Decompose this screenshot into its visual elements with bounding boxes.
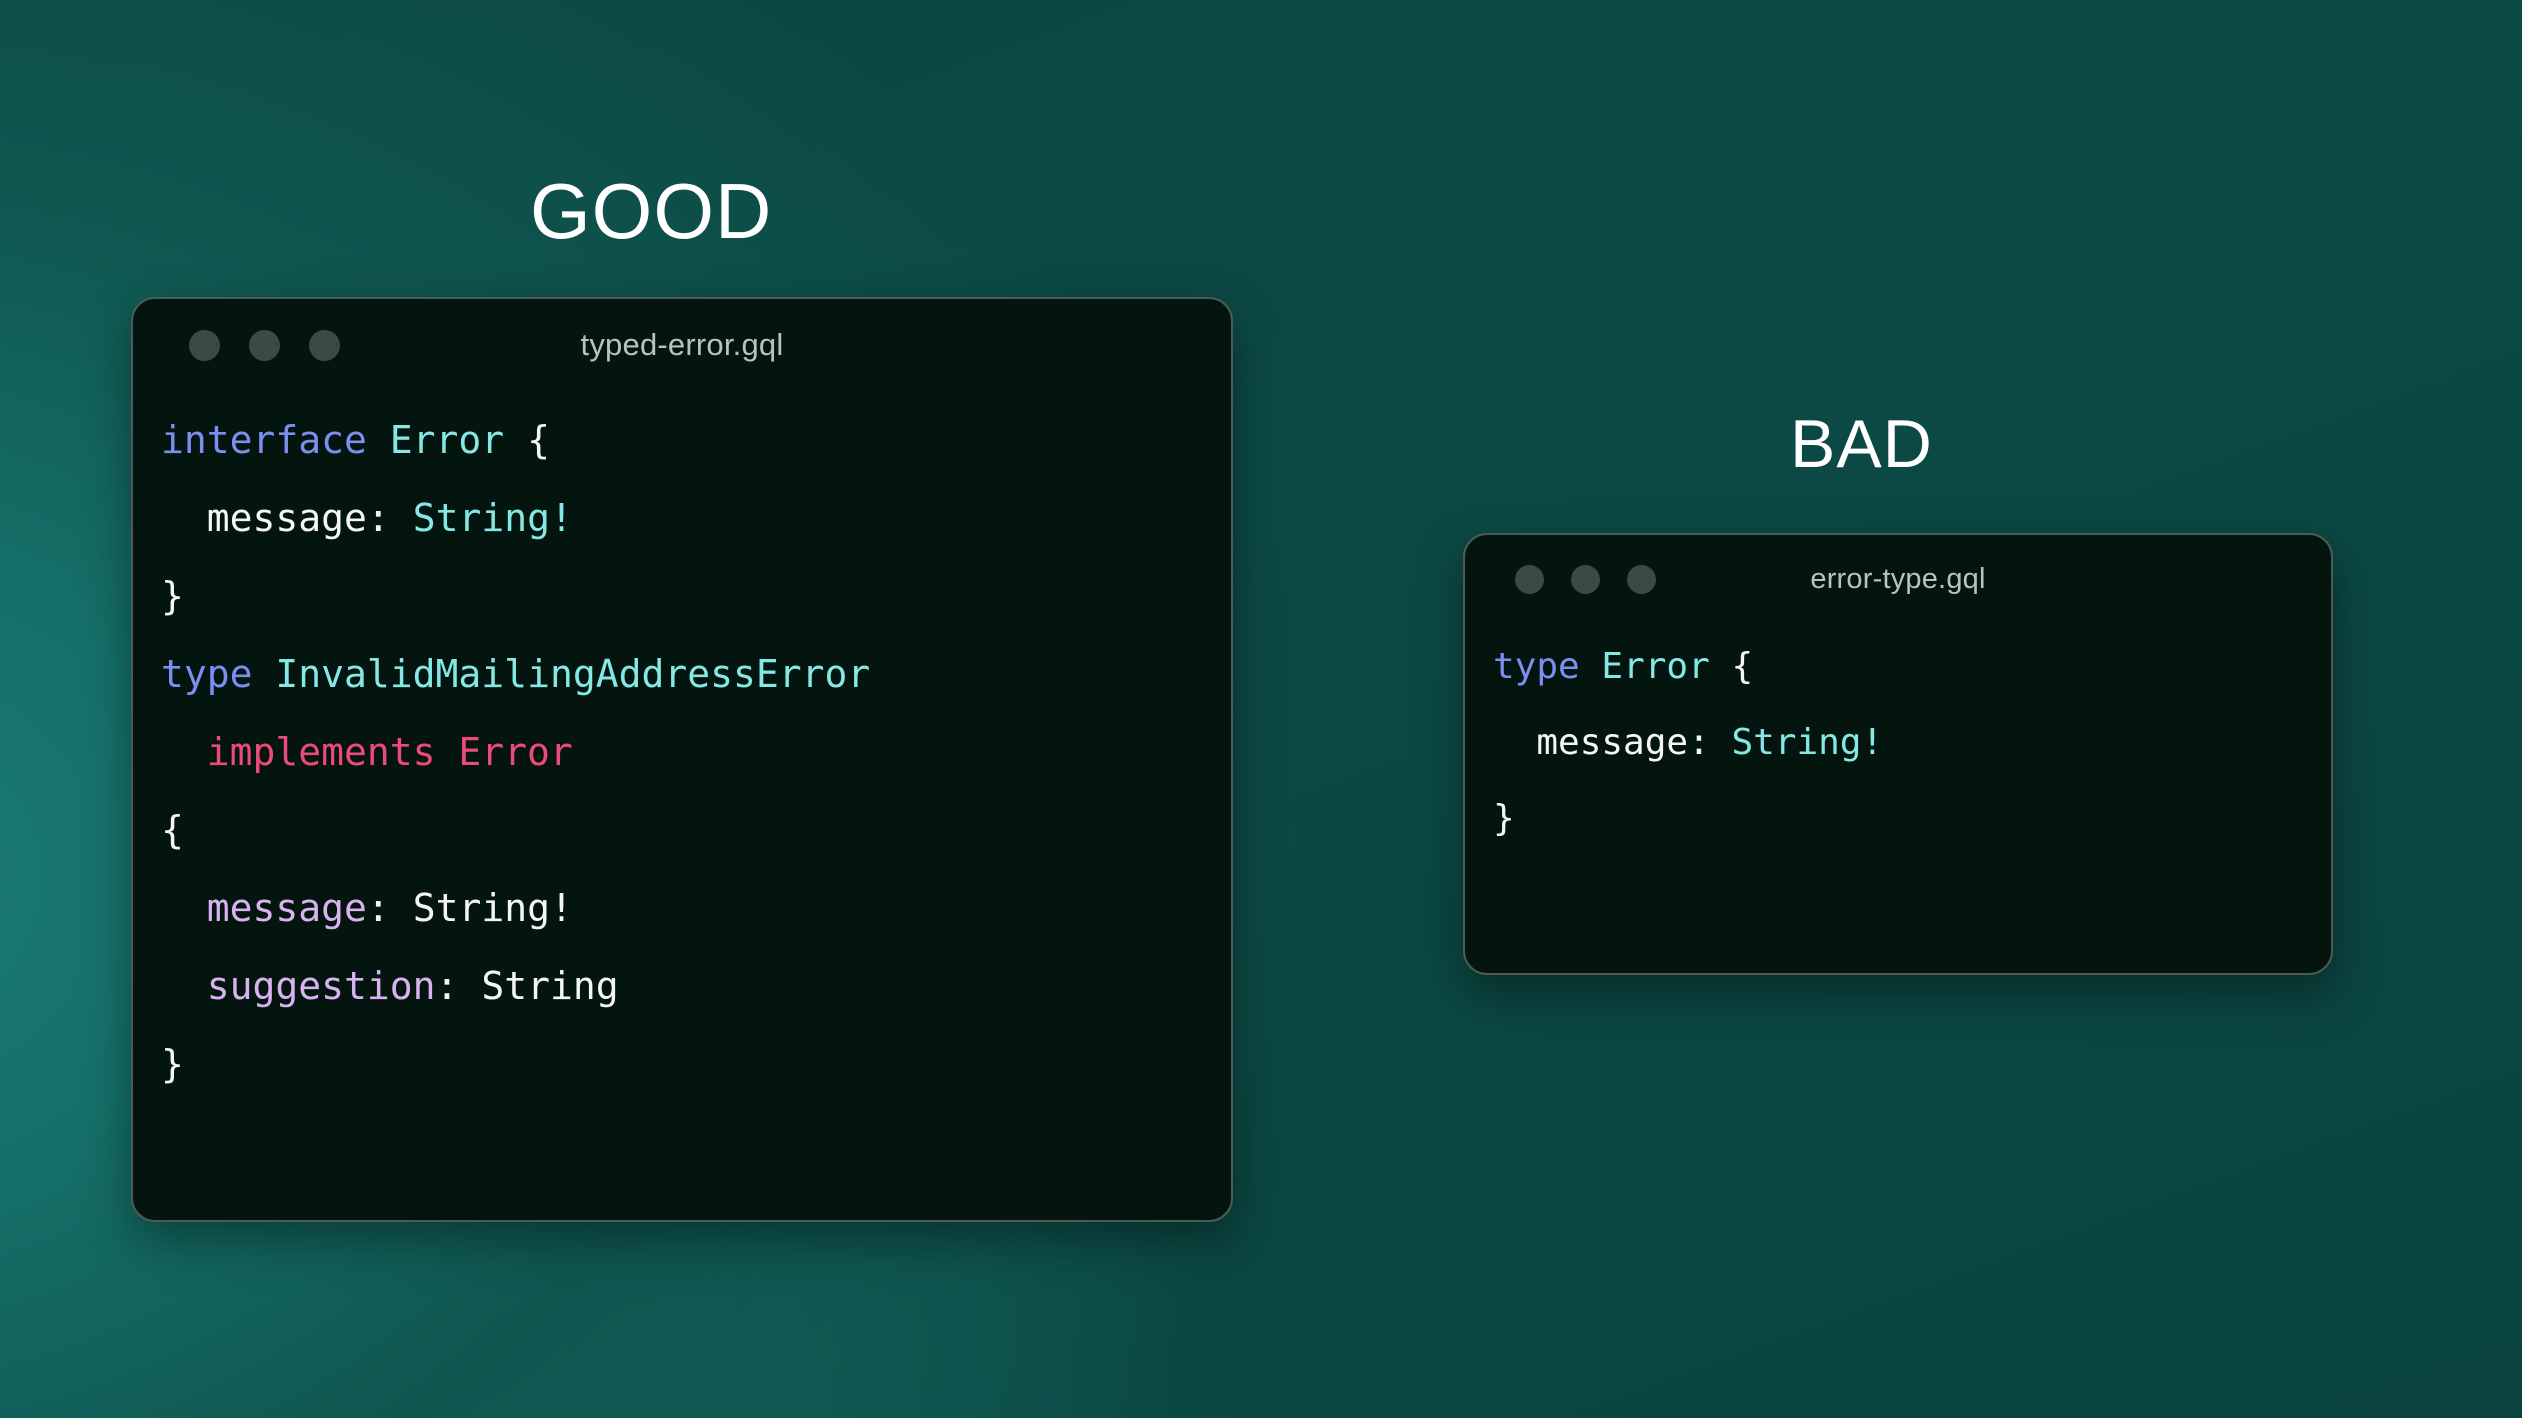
- minimize-dot-icon[interactable]: [249, 330, 280, 361]
- code-token: :: [367, 886, 413, 930]
- code-token: [161, 886, 207, 930]
- code-token: [1493, 722, 1536, 763]
- bad-example-heading: BAD: [1790, 410, 1933, 478]
- code-line: message: String!: [161, 869, 1231, 947]
- code-token: [504, 418, 527, 462]
- code-token: message: [207, 886, 367, 930]
- close-dot-icon[interactable]: [189, 330, 220, 361]
- maximize-dot-icon[interactable]: [1627, 565, 1656, 594]
- window-titlebar: typed-error.gql: [133, 299, 1231, 391]
- code-token: :: [1688, 722, 1731, 763]
- code-line: type InvalidMailingAddressError: [161, 635, 1231, 713]
- code-token: }: [161, 1042, 184, 1086]
- code-line: {: [161, 791, 1231, 869]
- code-token: {: [527, 418, 550, 462]
- code-token: implements Error: [207, 730, 573, 774]
- code-line: type Error {: [1493, 629, 2331, 705]
- code-line: }: [161, 557, 1231, 635]
- code-line: suggestion: String: [161, 947, 1231, 1025]
- code-token: String!: [1731, 722, 1883, 763]
- code-token: interface: [161, 418, 367, 462]
- slide-canvas: GOOD typed-error.gql interface Error { m…: [0, 0, 2522, 1418]
- code-token: message: [207, 496, 367, 540]
- code-token: [1710, 646, 1732, 687]
- code-line: }: [161, 1025, 1231, 1103]
- code-token: :: [367, 496, 413, 540]
- code-token: {: [161, 808, 184, 852]
- code-token: [1580, 646, 1602, 687]
- code-token: [161, 496, 207, 540]
- traffic-light-dots: [1515, 565, 1656, 594]
- code-window-bad: error-type.gql type Error { message: Str…: [1463, 533, 2333, 975]
- code-token: :: [436, 964, 482, 1008]
- code-token: [367, 418, 390, 462]
- maximize-dot-icon[interactable]: [309, 330, 340, 361]
- code-token: message: [1536, 722, 1688, 763]
- code-token: [253, 652, 276, 696]
- code-block-bad: type Error { message: String!}: [1465, 623, 2331, 857]
- code-line: }: [1493, 781, 2331, 857]
- code-token: type: [161, 652, 253, 696]
- code-line: message: String!: [1493, 705, 2331, 781]
- code-token: }: [161, 574, 184, 618]
- code-token: {: [1731, 646, 1753, 687]
- code-token: InvalidMailingAddressError: [275, 652, 870, 696]
- code-line: implements Error: [161, 713, 1231, 791]
- minimize-dot-icon[interactable]: [1571, 565, 1600, 594]
- code-token: Error: [390, 418, 504, 462]
- code-block-good: interface Error { message: String!}type …: [133, 391, 1231, 1103]
- good-example-heading: GOOD: [530, 172, 772, 250]
- code-token: [161, 964, 207, 1008]
- code-token: String!: [413, 496, 573, 540]
- code-token: Error: [1601, 646, 1709, 687]
- code-token: }: [1493, 798, 1515, 839]
- window-titlebar: error-type.gql: [1465, 535, 2331, 623]
- code-token: String!: [413, 886, 573, 930]
- traffic-light-dots: [189, 330, 340, 361]
- code-token: [161, 730, 207, 774]
- close-dot-icon[interactable]: [1515, 565, 1544, 594]
- code-token: type: [1493, 646, 1580, 687]
- code-line: interface Error {: [161, 401, 1231, 479]
- code-token: suggestion: [207, 964, 436, 1008]
- code-line: message: String!: [161, 479, 1231, 557]
- code-token: String: [481, 964, 618, 1008]
- code-window-good: typed-error.gql interface Error { messag…: [131, 297, 1233, 1222]
